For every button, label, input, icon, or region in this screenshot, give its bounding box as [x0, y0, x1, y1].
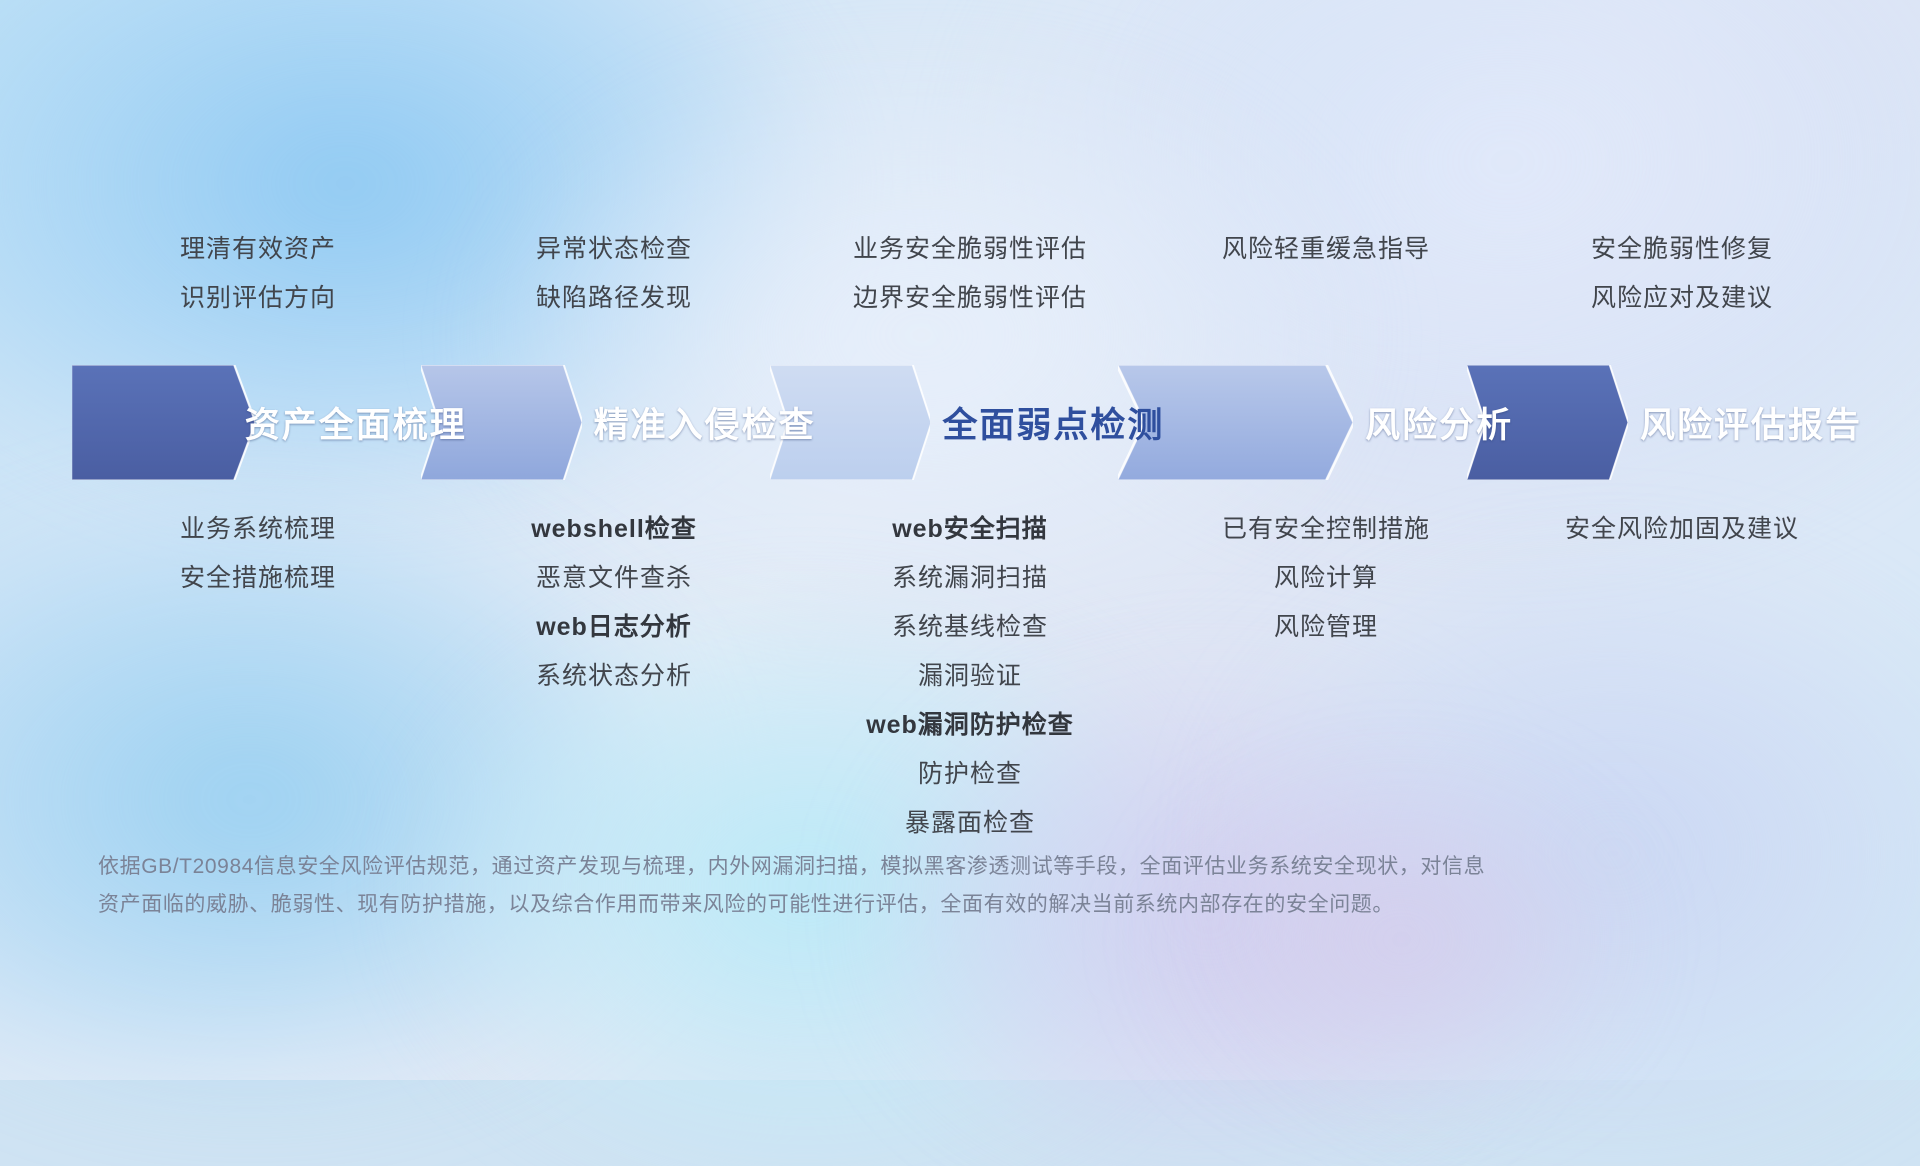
list-item: web漏洞防护检查 — [866, 701, 1074, 750]
list-item: 风险管理 — [1274, 603, 1378, 652]
list-item: 系统漏洞扫描 — [892, 554, 1048, 603]
top-items-row: 理清有效资产识别评估方向异常状态检查缺陷路径发现业务安全脆弱性评估边界安全脆弱性… — [80, 225, 1860, 323]
chevron-label: 精准入侵检查 — [594, 397, 816, 448]
chevron-fill — [72, 365, 255, 480]
chevron-band: 资产全面梳理精准入侵检查全面弱点检测风险分析风险评估报告 — [72, 365, 1862, 480]
list-item: 安全脆弱性修复 — [1591, 225, 1773, 274]
bottom-items-row: 业务系统梳理安全措施梳理webshell检查恶意文件查杀web日志分析系统状态分… — [80, 505, 1860, 848]
top-column-4: 风险轻重缓急指导 — [1148, 225, 1504, 323]
top-column-3: 业务安全脆弱性评估边界安全脆弱性评估 — [792, 225, 1148, 323]
list-item: 系统状态分析 — [536, 652, 692, 701]
process-diagram: 理清有效资产识别评估方向异常状态检查缺陷路径发现业务安全脆弱性评估边界安全脆弱性… — [0, 0, 1920, 1080]
list-item: 缺陷路径发现 — [536, 274, 692, 323]
list-item: 安全风险加固及建议 — [1565, 505, 1799, 554]
chevron-stage-1[interactable]: 资产全面梳理 — [72, 365, 467, 480]
top-column-1: 理清有效资产识别评估方向 — [80, 225, 436, 323]
list-item: 边界安全脆弱性评估 — [853, 274, 1087, 323]
chevron-stage-4[interactable]: 风险分析 — [1118, 365, 1513, 480]
list-item: 漏洞验证 — [918, 652, 1022, 701]
top-column-5: 安全脆弱性修复风险应对及建议 — [1504, 225, 1860, 323]
list-item: 异常状态检查 — [536, 225, 692, 274]
list-item: 风险轻重缓急指导 — [1222, 225, 1430, 274]
bottom-column-4: 已有安全控制措施风险计算风险管理 — [1148, 505, 1504, 848]
top-column-2: 异常状态检查缺陷路径发现 — [436, 225, 792, 323]
bottom-column-1: 业务系统梳理安全措施梳理 — [80, 505, 436, 848]
footer-line-1: 依据GB/T20984信息安全风险评估规范，通过资产发现与梳理，内外网漏洞扫描，… — [98, 848, 1618, 886]
chevron-stage-2[interactable]: 精准入侵检查 — [421, 365, 816, 480]
list-item: 业务安全脆弱性评估 — [853, 225, 1087, 274]
list-item: 安全措施梳理 — [180, 554, 336, 603]
list-item: webshell检查 — [531, 505, 697, 554]
chevron-stage-5[interactable]: 风险评估报告 — [1467, 365, 1862, 480]
list-item: 暴露面检查 — [905, 799, 1035, 848]
bottom-column-5: 安全风险加固及建议 — [1504, 505, 1860, 848]
list-item: 防护检查 — [918, 750, 1022, 799]
list-item: 系统基线检查 — [892, 603, 1048, 652]
list-item: web日志分析 — [536, 603, 692, 652]
chevron-label: 风险评估报告 — [1640, 397, 1862, 448]
chevron-label: 风险分析 — [1365, 397, 1513, 448]
footer-line-2: 资产面临的威胁、脆弱性、现有防护措施，以及综合作用而带来风险的可能性进行评估，全… — [98, 886, 1618, 924]
list-item: 理清有效资产 — [180, 225, 336, 274]
list-item: 风险计算 — [1274, 554, 1378, 603]
chevron-shape — [72, 365, 255, 480]
list-item: 风险应对及建议 — [1591, 274, 1773, 323]
bottom-column-2: webshell检查恶意文件查杀web日志分析系统状态分析 — [436, 505, 792, 848]
list-item: 识别评估方向 — [180, 274, 336, 323]
footer-description: 依据GB/T20984信息安全风险评估规范，通过资产发现与梳理，内外网漏洞扫描，… — [98, 848, 1618, 924]
bottom-column-3: web安全扫描系统漏洞扫描系统基线检查漏洞验证web漏洞防护检查防护检查暴露面检… — [792, 505, 1148, 848]
list-item: web安全扫描 — [892, 505, 1048, 554]
chevron-stage-3[interactable]: 全面弱点检测 — [770, 365, 1165, 480]
list-item: 业务系统梳理 — [180, 505, 336, 554]
list-item: 恶意文件查杀 — [536, 554, 692, 603]
chevron-label: 资产全面梳理 — [245, 397, 467, 448]
chevron-label: 全面弱点检测 — [942, 397, 1164, 448]
list-item: 已有安全控制措施 — [1222, 505, 1430, 554]
